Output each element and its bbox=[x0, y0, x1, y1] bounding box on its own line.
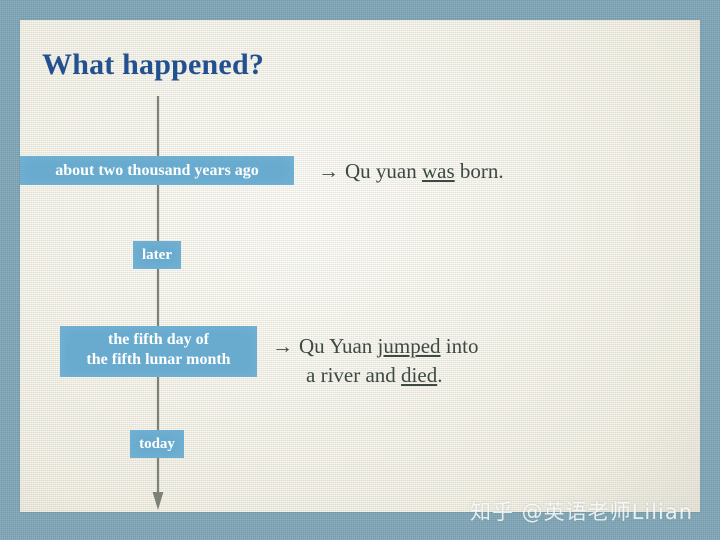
arrow-right-icon: → bbox=[318, 159, 345, 183]
page-title: What happened? bbox=[42, 48, 264, 82]
narration-text-post: born. bbox=[455, 159, 504, 183]
narration-text-underlined: was bbox=[422, 159, 455, 183]
timeline-band-fifth-day-fifth-lunar-month: the fifth day of the fifth lunar month bbox=[60, 326, 257, 377]
arrow-right-icon: → bbox=[272, 334, 299, 358]
slide-paper-panel bbox=[20, 20, 700, 512]
narration-text-pre-2: a river and bbox=[306, 363, 401, 387]
timeline-band-about-two-thousand-years-ago: about two thousand years ago bbox=[20, 156, 294, 185]
slide-canvas: What happened? about two thousand years … bbox=[0, 0, 720, 540]
narration-text-pre: Qu yuan bbox=[345, 159, 422, 183]
narration-qu-yuan-jumped-into-a-river-and-died: →Qu Yuan jumped into a river and died. bbox=[272, 332, 478, 389]
timeline-band-later: later bbox=[133, 241, 181, 269]
timeline-band-today: today bbox=[130, 430, 184, 458]
narration-line-2: a river and died. bbox=[272, 361, 478, 390]
narration-text-underlined: jumped bbox=[378, 334, 441, 358]
narration-text-pre: Qu Yuan bbox=[299, 334, 378, 358]
narration-text-post-2: . bbox=[437, 363, 442, 387]
band-line-2: the fifth lunar month bbox=[60, 350, 257, 370]
watermark: 知乎 @英语老师Lilian bbox=[470, 496, 693, 526]
narration-line-1: →Qu Yuan jumped into bbox=[272, 334, 478, 358]
narration-text-underlined-2: died bbox=[401, 363, 437, 387]
narration-text-post: into bbox=[441, 334, 479, 358]
narration-qu-yuan-was-born: →Qu yuan was born. bbox=[318, 157, 504, 186]
band-line-1: the fifth day of bbox=[60, 330, 257, 350]
